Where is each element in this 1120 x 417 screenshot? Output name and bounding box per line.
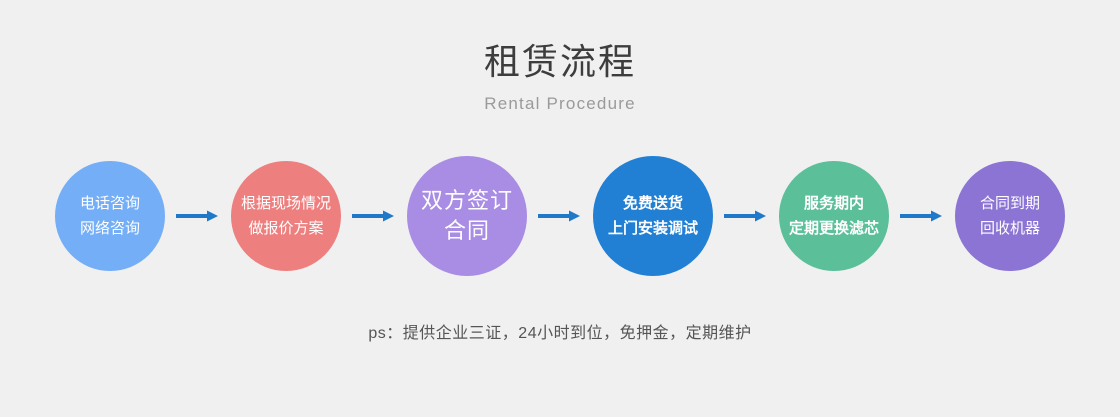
header: 租赁流程 Rental Procedure — [0, 40, 1120, 116]
process-step-label-line1: 服务期内 — [804, 191, 864, 216]
page-subtitle: Rental Procedure — [0, 92, 1120, 116]
process-step-label-line2: 定期更换滤芯 — [789, 216, 879, 241]
process-step-label-line1: 合同到期 — [980, 191, 1040, 216]
process-step-label-line2: 回收机器 — [980, 216, 1040, 241]
footer-note: ps：提供企业三证，24小时到位，免押金，定期维护 — [0, 322, 1120, 346]
process-step-label-line1: 根据现场情况 — [241, 191, 331, 216]
process-step-label-line1: 电话咨询 — [80, 191, 140, 216]
process-step-label-line2: 网络咨询 — [80, 216, 140, 241]
process-step-3[interactable]: 双方签订合同 — [407, 156, 527, 276]
process-step-label-line2: 合同 — [444, 216, 490, 246]
arrow-right-icon — [724, 209, 768, 223]
arrow-right-icon — [352, 209, 396, 223]
process-step-label-line2: 做报价方案 — [248, 216, 323, 241]
process-step-4[interactable]: 免费送货上门安装调试 — [593, 156, 713, 276]
process-step-label-line1: 双方签订 — [421, 186, 513, 216]
arrow-right-icon — [176, 209, 220, 223]
page-title: 租赁流程 — [0, 40, 1120, 84]
process-step-label-line2: 上门安装调试 — [608, 216, 698, 241]
arrow-right-icon — [900, 209, 944, 223]
process-flow: 电话咨询网络咨询根据现场情况做报价方案双方签订合同免费送货上门安装调试服务期内定… — [0, 148, 1120, 284]
rental-procedure-infographic: 租赁流程 Rental Procedure 电话咨询网络咨询根据现场情况做报价方… — [0, 0, 1120, 417]
arrow-right-icon — [538, 209, 582, 223]
process-step-label-line1: 免费送货 — [623, 191, 683, 216]
process-step-2[interactable]: 根据现场情况做报价方案 — [231, 161, 341, 271]
process-step-1[interactable]: 电话咨询网络咨询 — [55, 161, 165, 271]
process-step-5[interactable]: 服务期内定期更换滤芯 — [779, 161, 889, 271]
process-step-6[interactable]: 合同到期回收机器 — [955, 161, 1065, 271]
